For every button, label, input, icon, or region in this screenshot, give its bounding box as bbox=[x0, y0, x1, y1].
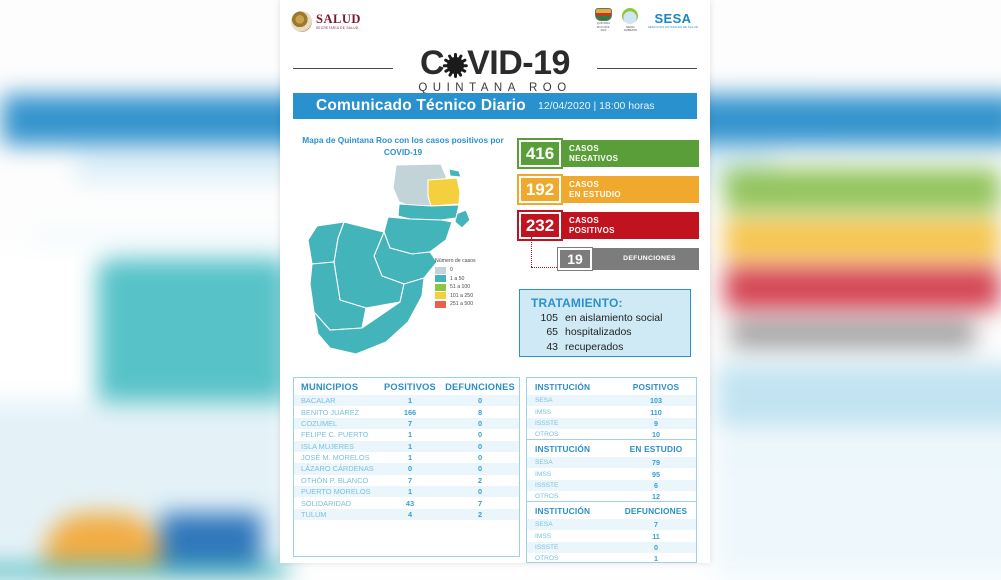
state-logos: QUINTANA ROO 2016-2022 MEDIO AMBIENTE SE… bbox=[594, 8, 698, 32]
cell-10-0: TULUM bbox=[294, 509, 379, 520]
legend-label-0: 0 bbox=[450, 267, 453, 273]
column-header-1: DEFUNCIONES bbox=[616, 502, 696, 519]
cell-1-2: 8 bbox=[441, 406, 519, 417]
table-header-row: INSTITUCIÓNDEFUNCIONES bbox=[527, 502, 696, 519]
cell-5-2: 0 bbox=[441, 452, 519, 463]
cell-4-1: 1 bbox=[379, 441, 441, 452]
table-row: BACALAR10 bbox=[294, 395, 519, 406]
table-row: FELIPE C. PUERTO10 bbox=[294, 429, 519, 440]
cell-2-2: 0 bbox=[441, 418, 519, 429]
treatment-box: TRATAMIENTO: 105 en aislamiento social 6… bbox=[519, 289, 691, 357]
legend-title: Número de casos bbox=[435, 258, 476, 264]
cell-3-1: 1 bbox=[616, 553, 696, 563]
stat-under-study-number: 192 bbox=[519, 176, 561, 203]
table-row: ISSSTE0 bbox=[527, 542, 696, 553]
map-region-puerto-morelos bbox=[398, 204, 459, 220]
stat-negative-label-line1: CASOS bbox=[569, 144, 699, 153]
cell-0-2: 0 bbox=[441, 395, 519, 406]
cell-8-1: 1 bbox=[379, 486, 441, 497]
treatment-label-0: en aislamiento social bbox=[558, 311, 662, 325]
cell-0-1: 7 bbox=[616, 519, 696, 530]
legend-swatch-2 bbox=[435, 284, 446, 291]
stat-deaths-number: 19 bbox=[558, 248, 592, 270]
cell-5-0: JOSÉ M. MORELOS bbox=[294, 452, 379, 463]
table-row: OTHÓN P. BLANCO72 bbox=[294, 475, 519, 486]
legend-swatch-4 bbox=[435, 301, 446, 308]
sesa-logo-title: SESA bbox=[654, 12, 691, 25]
cell-1-0: BENITO JUÁREZ bbox=[294, 406, 379, 417]
stat-negative-label: CASOS NEGATIVOS bbox=[561, 140, 699, 167]
municipios-table: MUNICIPIOSPOSITIVOSDEFUNCIONES BACALAR10… bbox=[293, 377, 520, 557]
table-row: IMSS110 bbox=[527, 406, 696, 417]
quintana-roo-map bbox=[300, 162, 515, 362]
legend-item: 51 a 100 bbox=[435, 284, 476, 291]
cell-4-2: 0 bbox=[441, 441, 519, 452]
legend-item: 0 bbox=[435, 267, 476, 274]
column-header-0: INSTITUCIÓN bbox=[527, 378, 616, 395]
table-row: PUERTO MORELOS10 bbox=[294, 486, 519, 497]
cell-1-0: IMSS bbox=[527, 468, 616, 479]
cell-7-0: OTHÓN P. BLANCO bbox=[294, 475, 379, 486]
stat-positive-label-line1: CASOS bbox=[569, 216, 699, 225]
treatment-row: 105 en aislamiento social bbox=[531, 311, 690, 325]
table-header-row: MUNICIPIOSPOSITIVOSDEFUNCIONES bbox=[294, 378, 519, 395]
legend-label-3: 101 a 250 bbox=[450, 293, 473, 299]
cell-9-1: 43 bbox=[379, 497, 441, 508]
banner-title: Comunicado Técnico Diario bbox=[316, 97, 526, 115]
treatment-label-1: hospitalizados bbox=[558, 325, 632, 339]
table-row: LÁZARO CÁRDENAS00 bbox=[294, 463, 519, 474]
cell-0-0: SESA bbox=[527, 395, 616, 406]
sesa-logo-subtitle: SERVICIOS ESTATALES DE SALUD bbox=[648, 26, 698, 29]
legend-swatch-0 bbox=[435, 267, 446, 274]
cell-2-0: ISSSTE bbox=[527, 418, 616, 429]
treatment-number-1: 65 bbox=[531, 325, 558, 339]
table-row: TULUM42 bbox=[294, 509, 519, 520]
table-row: COZUMEL70 bbox=[294, 418, 519, 429]
institucion-defunciones-table: INSTITUCIÓNDEFUNCIONESSESA7IMSS11ISSSTE0… bbox=[526, 501, 697, 563]
deaths-connector-horizontal bbox=[531, 267, 557, 268]
treatment-number-0: 105 bbox=[531, 311, 558, 325]
cell-8-0: PUERTO MORELOS bbox=[294, 486, 379, 497]
covid-title-pre: C bbox=[420, 44, 444, 82]
header-logos: SALUD SECRETARÍA DE SALUD QUINTANA ROO 2… bbox=[280, 8, 710, 46]
legend-label-1: 1 a 50 bbox=[450, 276, 464, 282]
table-row: ISLA MUJERES10 bbox=[294, 441, 519, 452]
institucion-en-estudio-table: INSTITUCIÓNEN ESTUDIOSESA79IMSS95ISSSTE6… bbox=[526, 439, 697, 507]
medio-ambiente-tree-icon: MEDIO AMBIENTE bbox=[620, 8, 641, 32]
quintana-roo-seal-icon: QUINTANA ROO 2016-2022 bbox=[594, 8, 613, 32]
stat-negative-label-line2: NEGATIVOS bbox=[569, 154, 699, 163]
cell-6-2: 0 bbox=[441, 463, 519, 474]
cell-5-1: 1 bbox=[379, 452, 441, 463]
table-row: ISSSTE6 bbox=[527, 480, 696, 491]
table-row: SOLIDARIDAD437 bbox=[294, 497, 519, 508]
cell-1-1: 11 bbox=[616, 530, 696, 541]
table-header-row: INSTITUCIÓNEN ESTUDIO bbox=[527, 440, 696, 457]
table-row: SESA7 bbox=[527, 519, 696, 530]
stat-under-study-cases: 192 CASOS EN ESTUDIO bbox=[519, 176, 699, 203]
cell-2-0: ISSSTE bbox=[527, 542, 616, 553]
banner-date: 12/04/2020 | 18:00 horas bbox=[538, 100, 655, 112]
cell-2-1: 9 bbox=[616, 418, 696, 429]
sesa-logo: SESA SERVICIOS ESTATALES DE SALUD bbox=[648, 12, 698, 29]
cell-2-1: 7 bbox=[379, 418, 441, 429]
cell-0-1: 1 bbox=[379, 395, 441, 406]
cell-2-0: COZUMEL bbox=[294, 418, 379, 429]
table-row: SESA103 bbox=[527, 395, 696, 406]
treatment-label-2: recuperados bbox=[558, 340, 623, 354]
table-row: ISSSTE9 bbox=[527, 418, 696, 429]
table-row: IMSS95 bbox=[527, 468, 696, 479]
table-row: SESA79 bbox=[527, 457, 696, 468]
legend-item: 101 a 250 bbox=[435, 292, 476, 299]
cell-9-2: 7 bbox=[441, 497, 519, 508]
cell-10-1: 4 bbox=[379, 509, 441, 520]
column-header-2: DEFUNCIONES bbox=[441, 378, 519, 395]
cell-1-0: IMSS bbox=[527, 406, 616, 417]
stat-negative-number: 416 bbox=[519, 140, 561, 167]
stat-positive-label: CASOS POSITIVOS bbox=[561, 212, 699, 239]
stat-deaths: 19 DEFUNCIONES bbox=[558, 248, 699, 270]
cell-0-1: 103 bbox=[616, 395, 696, 406]
salud-logo-title: SALUD bbox=[316, 13, 361, 26]
mexico-eagle-icon bbox=[291, 11, 312, 32]
cell-0-0: BACALAR bbox=[294, 395, 379, 406]
cell-1-1: 166 bbox=[379, 406, 441, 417]
salud-logo: SALUD SECRETARÍA DE SALUD bbox=[291, 11, 361, 32]
legend-swatch-3 bbox=[435, 292, 446, 299]
column-header-1: POSITIVOS bbox=[379, 378, 441, 395]
stat-positive-number: 232 bbox=[519, 212, 561, 239]
table-header-row: INSTITUCIÓNPOSITIVOS bbox=[527, 378, 696, 395]
table-row: OTROS1 bbox=[527, 553, 696, 563]
table-row: JOSÉ M. MORELOS10 bbox=[294, 452, 519, 463]
table-row: IMSS11 bbox=[527, 530, 696, 541]
treatment-title: TRATAMIENTO: bbox=[531, 296, 690, 310]
deaths-connector-vertical bbox=[531, 237, 532, 267]
legend-swatch-1 bbox=[435, 275, 446, 282]
legend-label-4: 251 a 500 bbox=[450, 301, 473, 307]
stat-negative-cases: 416 CASOS NEGATIVOS bbox=[519, 140, 699, 167]
cell-1-1: 110 bbox=[616, 406, 696, 417]
stat-positive-label-line2: POSITIVOS bbox=[569, 226, 699, 235]
treatment-number-2: 43 bbox=[531, 340, 558, 354]
cell-1-0: IMSS bbox=[527, 530, 616, 541]
covid-title-text: CVID-19 bbox=[420, 46, 570, 80]
cell-10-2: 2 bbox=[441, 509, 519, 520]
medio-ambiente-caption: MEDIO AMBIENTE bbox=[620, 26, 641, 32]
cell-0-0: SESA bbox=[527, 519, 616, 530]
cell-0-0: SESA bbox=[527, 457, 616, 468]
cell-2-0: ISSSTE bbox=[527, 480, 616, 491]
cell-1-1: 95 bbox=[616, 468, 696, 479]
map-title: Mapa de Quintana Roo con los casos posit… bbox=[298, 134, 508, 158]
treatment-row: 43 recuperados bbox=[531, 340, 690, 354]
cell-3-2: 0 bbox=[441, 429, 519, 440]
legend-label-2: 51 a 100 bbox=[450, 284, 470, 290]
cell-9-0: SOLIDARIDAD bbox=[294, 497, 379, 508]
column-header-1: EN ESTUDIO bbox=[616, 440, 696, 457]
cell-3-0: FELIPE C. PUERTO bbox=[294, 429, 379, 440]
title-rule-right bbox=[597, 68, 697, 69]
treatment-row: 65 hospitalizados bbox=[531, 325, 690, 339]
cell-3-1: 1 bbox=[379, 429, 441, 440]
salud-logo-subtitle: SECRETARÍA DE SALUD bbox=[316, 27, 361, 30]
column-header-0: INSTITUCIÓN bbox=[527, 502, 616, 519]
cell-2-1: 0 bbox=[616, 542, 696, 553]
map-region-isla-mujeres bbox=[449, 169, 461, 177]
cell-7-1: 7 bbox=[379, 475, 441, 486]
page-title: CVID-19 QUINTANA ROO bbox=[280, 46, 710, 94]
cell-8-2: 0 bbox=[441, 486, 519, 497]
map-legend: Número de casos 0 1 a 50 51 a 100 101 a … bbox=[435, 258, 476, 309]
title-rule-left bbox=[293, 68, 393, 69]
stat-under-study-label-line2: EN ESTUDIO bbox=[569, 190, 699, 199]
cell-7-2: 2 bbox=[441, 475, 519, 486]
stat-deaths-wrapper: 19 DEFUNCIONES bbox=[519, 248, 699, 272]
quintana-roo-caption: QUINTANA ROO 2016-2022 bbox=[594, 22, 613, 32]
virus-icon bbox=[443, 53, 468, 78]
column-header-0: INSTITUCIÓN bbox=[527, 440, 616, 457]
cell-6-0: LÁZARO CÁRDENAS bbox=[294, 463, 379, 474]
map-region-solidaridad bbox=[384, 217, 452, 254]
cell-2-1: 6 bbox=[616, 480, 696, 491]
legend-item: 251 a 500 bbox=[435, 301, 476, 308]
map-region-benito-juarez bbox=[428, 178, 460, 206]
infographic-card: SALUD SECRETARÍA DE SALUD QUINTANA ROO 2… bbox=[280, 0, 710, 563]
institucion-positivos-table: INSTITUCIÓNPOSITIVOSSESA103IMSS110ISSSTE… bbox=[526, 377, 697, 445]
stat-under-study-label-line1: CASOS bbox=[569, 180, 699, 189]
column-header-1: POSITIVOS bbox=[616, 378, 696, 395]
case-statistics: 416 CASOS NEGATIVOS 192 CASOS EN ESTUDIO… bbox=[519, 140, 699, 272]
stat-positive-cases: 232 CASOS POSITIVOS bbox=[519, 212, 699, 239]
cell-0-1: 79 bbox=[616, 457, 696, 468]
legend-item: 1 a 50 bbox=[435, 275, 476, 282]
stat-deaths-label: DEFUNCIONES bbox=[592, 248, 699, 270]
cell-4-0: ISLA MUJERES bbox=[294, 441, 379, 452]
daily-report-banner: Comunicado Técnico Diario 12/04/2020 | 1… bbox=[293, 93, 697, 119]
stat-under-study-label: CASOS EN ESTUDIO bbox=[561, 176, 699, 203]
covid-title-post: VID-19 bbox=[467, 44, 570, 82]
table-row: BENITO JUÁREZ1668 bbox=[294, 406, 519, 417]
cell-3-0: OTROS bbox=[527, 553, 616, 563]
cell-6-1: 0 bbox=[379, 463, 441, 474]
column-header-0: MUNICIPIOS bbox=[294, 378, 379, 395]
